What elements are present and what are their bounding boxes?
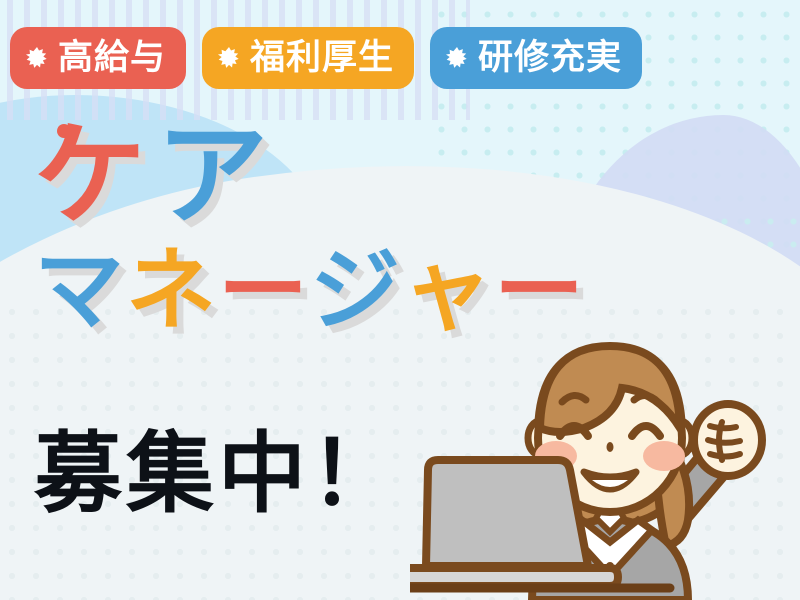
badge-benefits[interactable]: 福利厚生 [202, 27, 414, 89]
headline-char: マ [34, 246, 126, 336]
illustration-smiling-office-woman [410, 330, 800, 600]
badge-training[interactable]: 研修充実 [430, 27, 642, 89]
flower-dot-icon [24, 45, 50, 71]
headline-char: ャ [402, 246, 494, 336]
flower-dot-icon [444, 45, 470, 71]
badge-high-salary[interactable]: 高給与 [10, 27, 186, 89]
headline-char: ー [218, 246, 310, 336]
headline-char: ー [494, 246, 586, 336]
headline-char: ジ [310, 246, 402, 336]
headline-char: ケ [34, 120, 156, 232]
flower-dot-icon [216, 45, 242, 71]
headline-char: ネ [126, 246, 218, 336]
badge-row: 高給与 福利厚生 研修充実 [10, 27, 642, 89]
headline-char: ア [156, 120, 278, 232]
nose [607, 442, 614, 452]
headline-line-care: ケア [34, 120, 586, 232]
badge-label: 研修充実 [478, 41, 622, 76]
blush-right [643, 441, 685, 471]
badge-label: 高給与 [58, 41, 166, 76]
headline-line-manager: マネージャー [34, 246, 586, 336]
badge-label: 福利厚生 [250, 41, 394, 76]
headline-line-recruiting: 募集中！ [34, 430, 402, 518]
recruitment-banner: 高給与 福利厚生 研修充実 ケア マネージャー 募集中！ [0, 0, 800, 600]
headline-block: ケア マネージャー [34, 120, 586, 336]
